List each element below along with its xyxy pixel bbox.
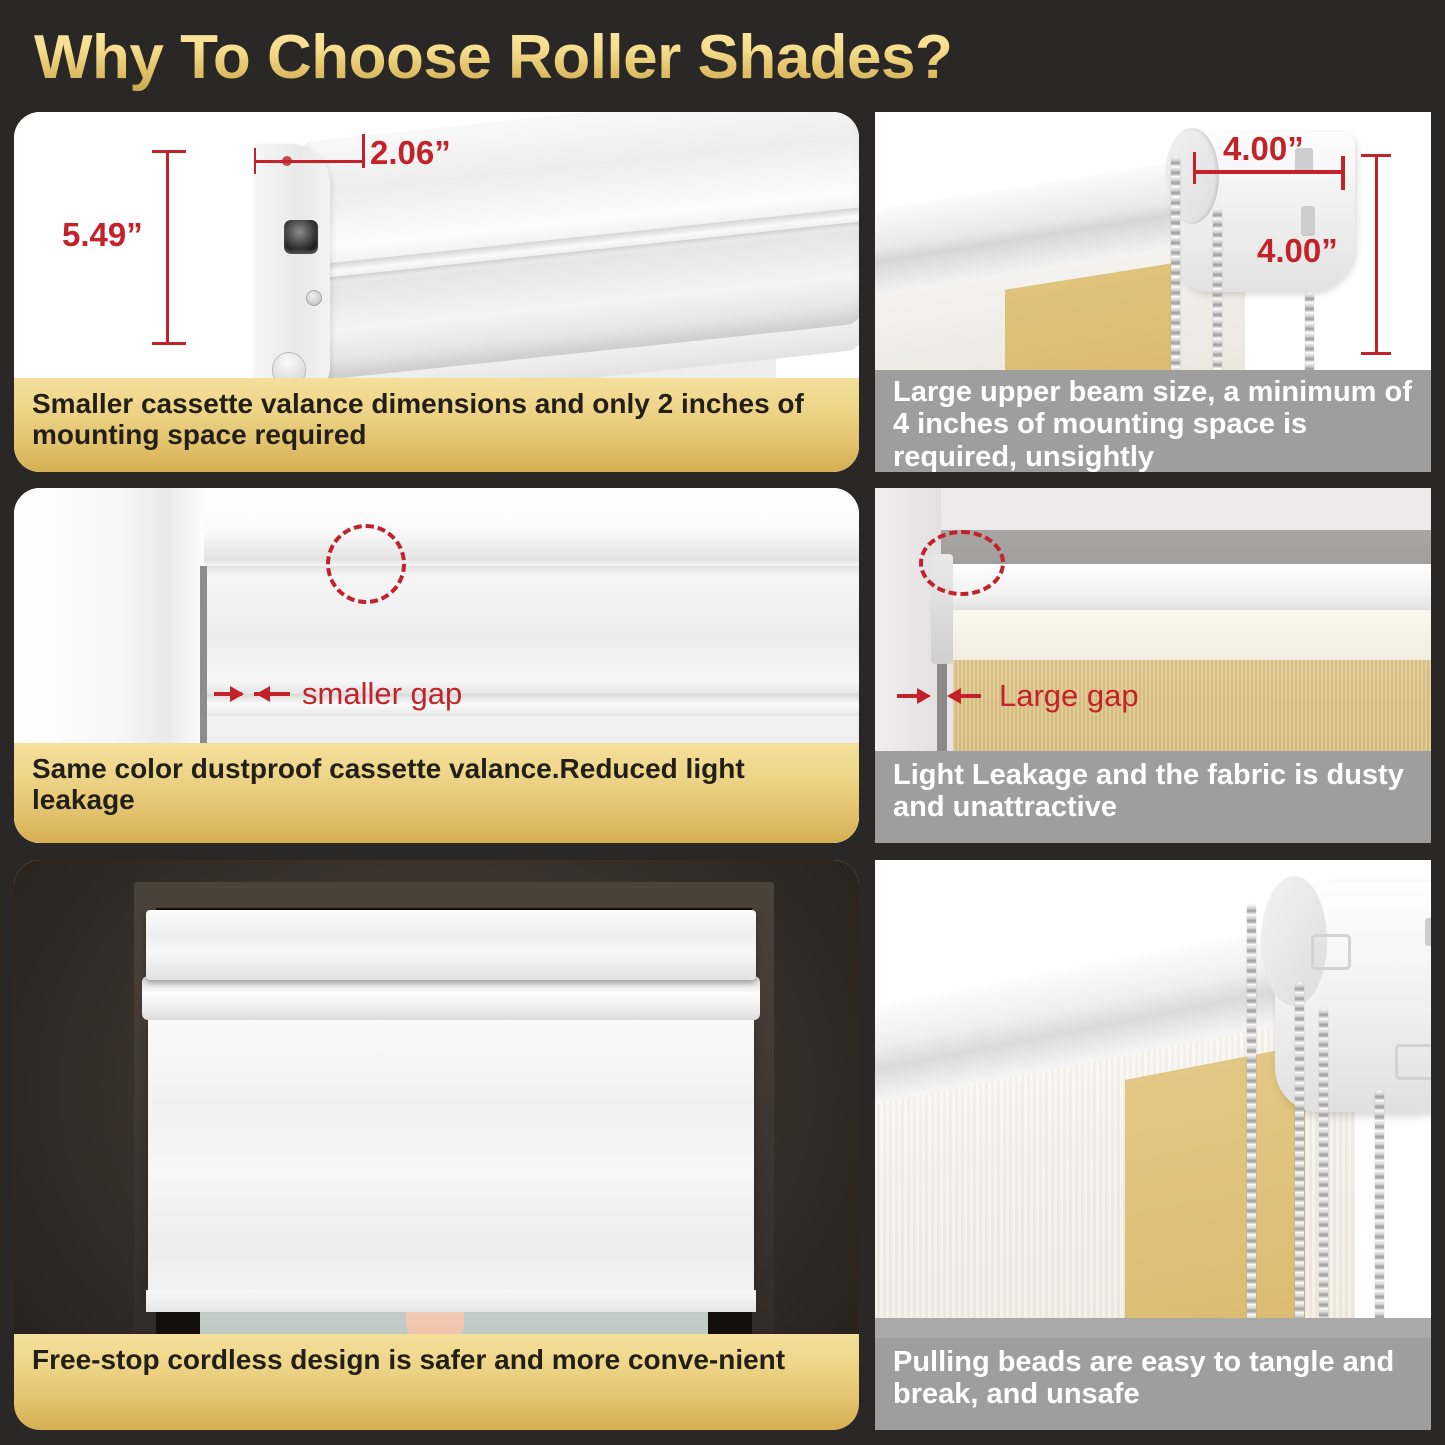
gap-arrows-icon [887,680,997,712]
panel-pro-light-leak: smaller gap Same color dustproof cassett… [14,488,859,843]
valance-chain-hole [284,220,318,254]
caption-con-light-leak: Light Leakage and the fabric is dusty an… [875,751,1431,843]
annotation-width-dimension: 2.06” [370,134,451,172]
shade-fabric [148,1018,754,1300]
valance-screw [306,290,322,306]
annotation-highlight-circle [919,530,1005,596]
bead-chain-mid [1295,982,1304,1364]
caption-text: Pulling beads are easy to tangle and bre… [893,1346,1415,1411]
caption-pro-light-leak: Same color dustproof cassette valance.Re… [14,743,859,843]
caption-pro-cordless: Free-stop cordless design is safer and m… [14,1334,859,1430]
caption-con-beads: Pulling beads are easy to tangle and bre… [875,1338,1431,1430]
gap-arrows-icon [204,678,304,710]
bead-chain-left [1247,904,1256,1364]
annotation-beam-width: 4.00” [1223,130,1304,168]
annotation-highlight-circle [326,524,406,604]
page-title: Why To Choose Roller Shades? [34,22,952,93]
caption-text: Free-stop cordless design is safer and m… [32,1344,785,1375]
panel-pro-cassette-size: 2.06” 5.49” Smaller cassette valance dim… [14,112,859,472]
bead-chain-mid2 [1319,1008,1328,1364]
caption-pro-cassette-size: Smaller cassette valance dimensions and … [14,378,859,472]
caption-text: Same color dustproof cassette valance.Re… [32,753,843,816]
annotation-gap-label: smaller gap [302,676,462,712]
annotation-height-dimension: 5.49” [62,216,143,254]
annotation-beam-height: 4.00” [1257,232,1338,270]
panel-con-beam-size: 4.00” 4.00” Large upper beam size, a min… [875,112,1431,472]
panel-pro-cordless: Free-stop cordless design is safer and m… [14,860,859,1430]
bead-chain-left [1171,156,1180,406]
panel-con-light-leak: Large gap Light Leakage and the fabric i… [875,488,1431,843]
caption-text: Large upper beam size, a minimum of 4 in… [893,376,1415,472]
annotation-gap-label: Large gap [999,678,1139,714]
shade-bottom-rail [146,1290,756,1312]
cassette-valance [146,910,756,980]
caption-text: Light Leakage and the fabric is dusty an… [893,759,1415,824]
caption-con-beam-size: Large upper beam size, a minimum of 4 in… [875,370,1431,472]
infographic-page: Why To Choose Roller Shades? 2.06” 5.49” [0,0,1445,1445]
panel-con-beads: Pulling beads are easy to tangle and bre… [875,860,1431,1430]
caption-text: Smaller cassette valance dimensions and … [32,388,843,451]
